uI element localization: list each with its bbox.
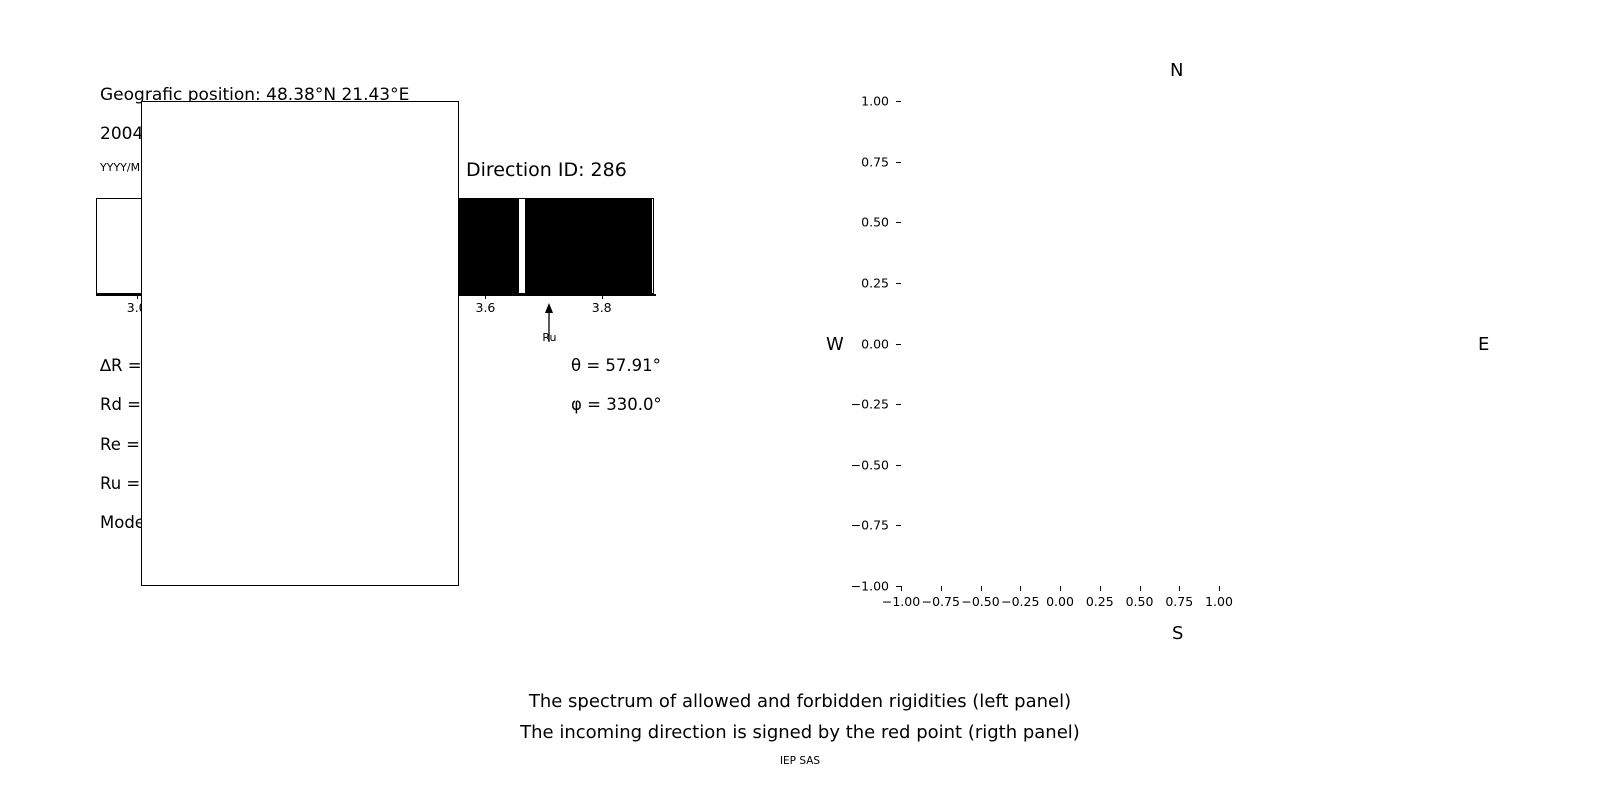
param-theta: θ = 57.91° <box>571 356 661 375</box>
y-axis-tick <box>896 525 901 526</box>
spectrum-tick <box>602 294 603 299</box>
y-axis-tick <box>896 404 901 405</box>
x-axis-tick <box>901 586 902 591</box>
caption-line-2: The incoming direction is signed by the … <box>0 717 1600 748</box>
footer-attribution: IEP SAS <box>0 755 1600 767</box>
x-axis-tick-label: −0.25 <box>1001 594 1039 609</box>
direction-id-text: Direction ID: 286 <box>466 159 627 181</box>
x-axis-tick-label: 1.00 <box>1205 594 1233 609</box>
y-axis-tick <box>896 465 901 466</box>
param-phi: φ = 330.0° <box>571 395 662 414</box>
x-axis-tick-label: 0.25 <box>1086 594 1114 609</box>
y-axis-tick <box>896 283 901 284</box>
y-axis-tick-label: 0.50 <box>835 215 889 230</box>
caption-line-1: The spectrum of allowed and forbidden ri… <box>0 686 1600 717</box>
marker-label-ru: Ru <box>542 331 556 344</box>
compass-label-north: N <box>1170 60 1183 81</box>
y-axis-tick-label: −0.50 <box>835 457 889 472</box>
x-axis-tick <box>1100 586 1101 591</box>
x-axis-tick-label: −0.50 <box>961 594 999 609</box>
spectrum-tick-label: 3.6 <box>475 300 495 315</box>
spectrum-tick <box>137 294 138 299</box>
forbidden-band <box>459 199 519 293</box>
x-axis-tick-label: −0.75 <box>922 594 960 609</box>
x-axis-tick <box>981 586 982 591</box>
figure-caption: The spectrum of allowed and forbidden ri… <box>0 686 1600 748</box>
forbidden-band <box>525 199 652 293</box>
spectrum-tick-label: 3.8 <box>592 300 612 315</box>
y-axis-tick <box>896 101 901 102</box>
x-axis-tick <box>1179 586 1180 591</box>
compass-label-east: E <box>1478 334 1489 355</box>
spectrum-tick <box>485 294 486 299</box>
x-axis-tick <box>1020 586 1021 591</box>
x-axis-tick <box>1140 586 1141 591</box>
x-axis-tick-label: 0.75 <box>1165 594 1193 609</box>
x-axis-tick <box>1219 586 1220 591</box>
y-axis-tick-label: 0.75 <box>835 154 889 169</box>
y-axis-tick-label: 0.25 <box>835 275 889 290</box>
x-axis-tick <box>1060 586 1061 591</box>
y-axis-tick <box>896 162 901 163</box>
y-axis-tick-label: −0.75 <box>835 518 889 533</box>
x-axis-tick-label: −1.00 <box>882 594 920 609</box>
y-axis-tick-label: −1.00 <box>835 579 889 594</box>
y-axis-tick-label: −0.25 <box>835 397 889 412</box>
y-axis-tick <box>896 222 901 223</box>
y-axis-tick-label: 1.00 <box>835 94 889 109</box>
compass-label-south: S <box>1172 623 1183 644</box>
y-axis-tick <box>896 344 901 345</box>
plot-frame-border <box>141 101 459 586</box>
x-axis-tick <box>941 586 942 591</box>
x-axis-tick-label: 0.50 <box>1126 594 1154 609</box>
y-axis-tick-label: 0.00 <box>835 336 889 351</box>
x-axis-tick-label: 0.00 <box>1046 594 1074 609</box>
